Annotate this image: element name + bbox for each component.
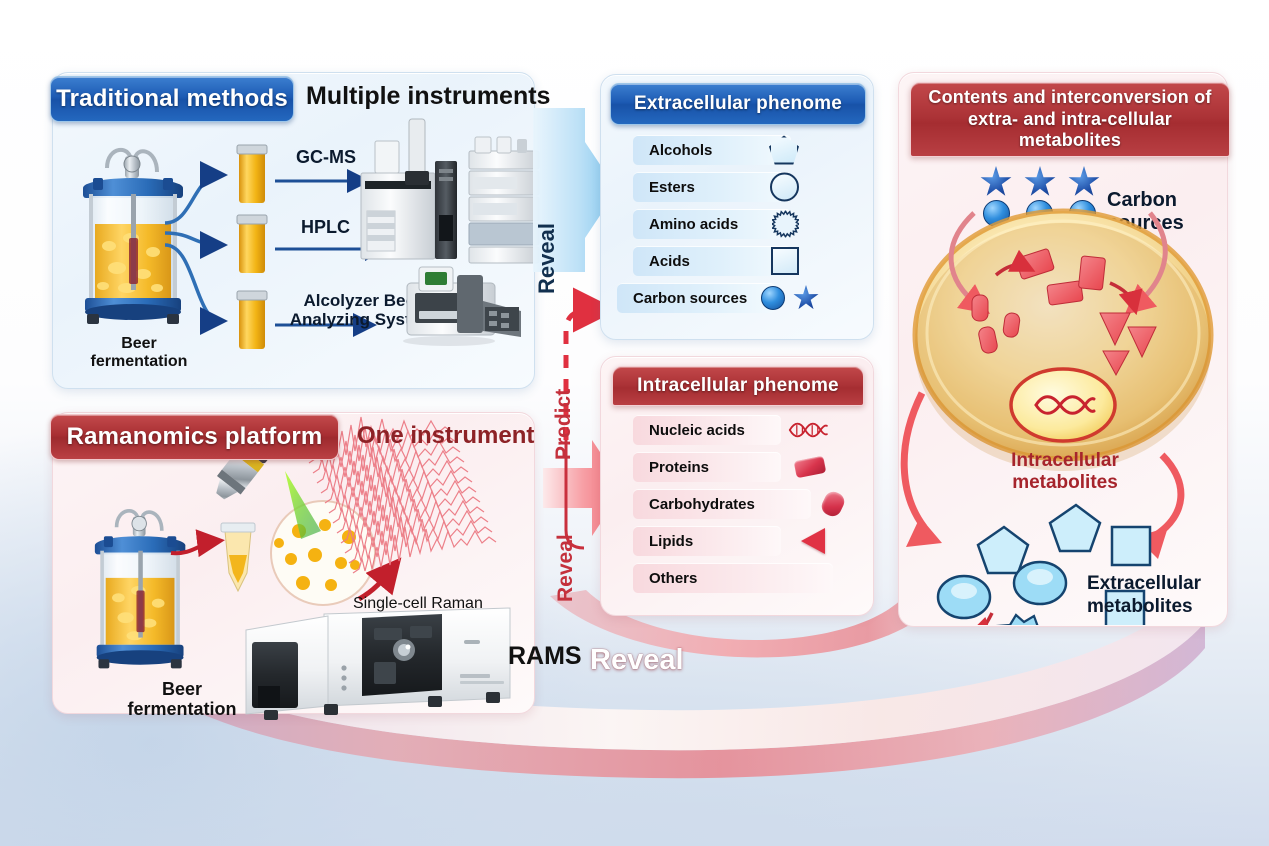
blue-ball-icon bbox=[761, 286, 785, 310]
traditional-methods-badge-label: Traditional methods bbox=[56, 86, 288, 113]
flow-label-gcms: GC-MS bbox=[296, 147, 356, 168]
list-item-label: Proteins bbox=[633, 459, 709, 476]
reveal-top-label: Reveal bbox=[534, 223, 560, 294]
extracellular-items-list: Alcohols Esters Amino acids Acids bbox=[601, 135, 873, 320]
list-item-label: Alcohols bbox=[633, 142, 712, 159]
rams-instrument-illustration bbox=[228, 590, 528, 730]
extracellular-metabolites-label: Extracellular metabolites bbox=[1087, 550, 1227, 618]
circle-outline-icon bbox=[770, 173, 799, 202]
blue-star-icon bbox=[980, 166, 1012, 198]
predict-label: Predict bbox=[552, 389, 576, 460]
esters-glyphs bbox=[770, 173, 799, 202]
proteins-glyphs bbox=[795, 459, 825, 476]
flow-label-hplc: HPLC bbox=[301, 217, 350, 238]
intracellular-phenome-header-label: Intracellular phenome bbox=[637, 375, 839, 396]
blue-star-icon bbox=[793, 285, 819, 311]
reveal-bottom-label: Reveal bbox=[554, 534, 578, 602]
list-item-label: Acids bbox=[633, 253, 690, 270]
list-item-acids[interactable]: Acids bbox=[633, 246, 791, 276]
intracellular-phenome-header: Intracellular phenome bbox=[612, 366, 864, 406]
carbon-sources-glyphs bbox=[761, 285, 819, 311]
carbohydrate-capsule-icon bbox=[819, 489, 847, 519]
extracellular-phenome-panel: Extracellular phenome Alcohols Esters Am… bbox=[600, 74, 874, 340]
rams-label: RAMS bbox=[508, 642, 582, 671]
instrument-cluster-illustration bbox=[353, 115, 543, 375]
ramanomics-platform-badge-label: Ramanomics platform bbox=[67, 424, 323, 451]
intracellular-items-list: Nucleic acids Proteins bbox=[601, 415, 873, 600]
list-item-label: Carbohydrates bbox=[633, 496, 755, 513]
list-item-carbohydrates[interactable]: Carbohydrates bbox=[633, 489, 811, 519]
list-item-esters[interactable]: Esters bbox=[633, 172, 791, 202]
list-item-nucleic-acids[interactable]: Nucleic acids bbox=[633, 415, 781, 445]
list-item-proteins[interactable]: Proteins bbox=[633, 452, 781, 482]
ribbon-reveal-label: Reveal bbox=[590, 644, 684, 677]
alcohols-glyphs bbox=[769, 136, 799, 165]
list-item-label: Others bbox=[633, 570, 697, 587]
acids-glyphs bbox=[771, 247, 799, 275]
pentagon-outline-icon bbox=[769, 136, 799, 165]
starburst-outline-icon bbox=[772, 211, 799, 238]
traditional-headline: Multiple instruments bbox=[306, 82, 550, 111]
blue-star-icon bbox=[1068, 166, 1100, 198]
metabolite-panel-header-label: Contents and interconversion of extra- a… bbox=[917, 87, 1223, 153]
extracellular-phenome-header: Extracellular phenome bbox=[610, 83, 866, 125]
square-outline-icon bbox=[771, 247, 799, 275]
list-item-label: Esters bbox=[633, 179, 695, 196]
list-item-carbon-sources[interactable]: Carbon sources bbox=[617, 283, 775, 313]
nucleic-acids-glyphs bbox=[787, 420, 829, 440]
list-item-label: Carbon sources bbox=[617, 290, 747, 307]
list-item-others[interactable]: Others bbox=[633, 563, 833, 593]
list-item-label: Lipids bbox=[633, 533, 693, 550]
list-item-label: Nucleic acids bbox=[633, 422, 745, 439]
protein-block-icon bbox=[794, 456, 827, 478]
lipids-glyphs bbox=[801, 528, 825, 554]
intracellular-metabolites-label: Intracellular metabolites bbox=[985, 428, 1145, 494]
ramanomics-headline: One instrument bbox=[357, 422, 534, 450]
amino-acids-glyphs bbox=[772, 211, 799, 238]
ramanomics-platform-badge: Ramanomics platform bbox=[50, 414, 339, 460]
list-item-lipids[interactable]: Lipids bbox=[633, 526, 781, 556]
list-item-amino-acids[interactable]: Amino acids bbox=[633, 209, 791, 239]
carbon-source-markers bbox=[980, 166, 1100, 198]
list-item-alcohols[interactable]: Alcohols bbox=[633, 135, 791, 165]
extracellular-phenome-header-label: Extracellular phenome bbox=[634, 93, 842, 114]
dna-helix-icon bbox=[787, 420, 829, 440]
list-item-label: Amino acids bbox=[633, 216, 738, 233]
blue-star-icon bbox=[1024, 166, 1056, 198]
carbohydrates-glyphs bbox=[823, 492, 843, 516]
lipid-triangle-icon bbox=[801, 528, 825, 554]
metabolite-panel-header: Contents and interconversion of extra- a… bbox=[910, 82, 1230, 157]
traditional-methods-badge: Traditional methods bbox=[50, 76, 294, 122]
intracellular-phenome-panel: Intracellular phenome Nucleic acids P bbox=[600, 356, 874, 616]
